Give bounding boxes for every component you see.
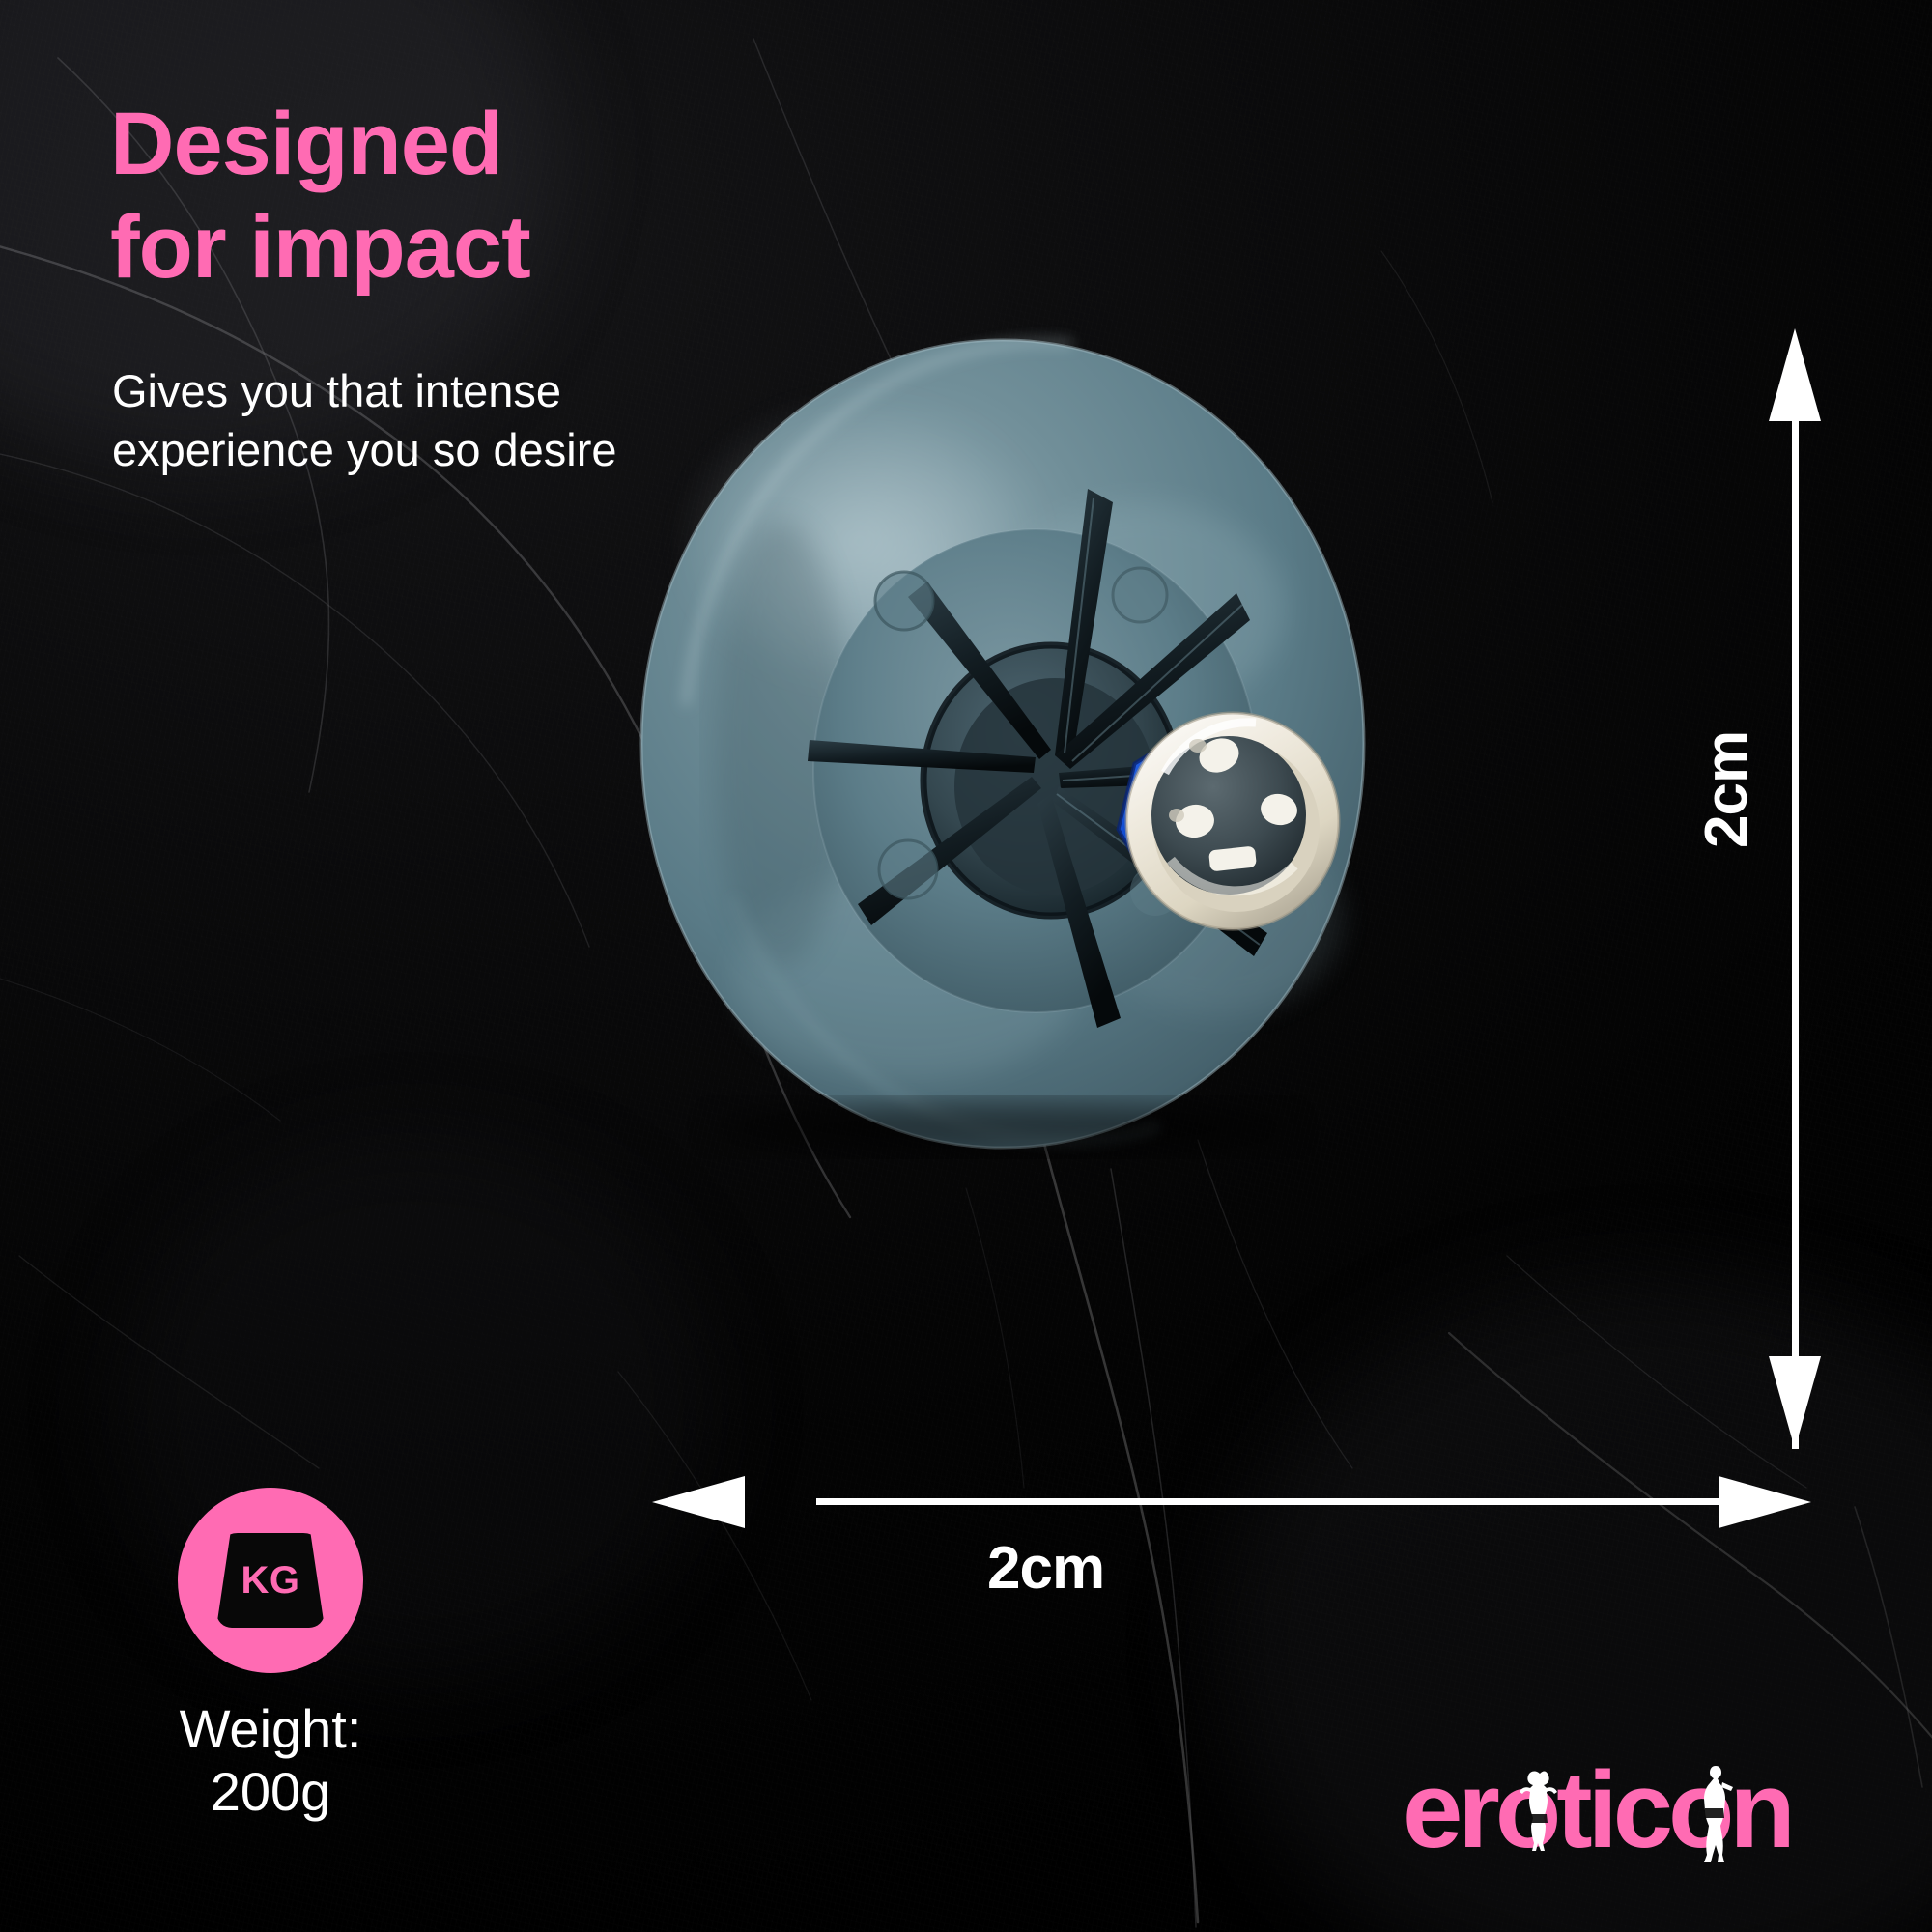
- arrow-down-icon: [1769, 1356, 1821, 1449]
- arrow-left-icon: [652, 1476, 745, 1528]
- brand-wordmark: eroticon: [1403, 1750, 1791, 1870]
- page-title: Designed for impact: [110, 93, 844, 298]
- vertical-dimension-line: [1792, 415, 1799, 1449]
- arrow-right-icon: [1719, 1476, 1811, 1528]
- kg-label: KG: [241, 1559, 300, 1603]
- kg-scale-icon: KG: [216, 1533, 325, 1628]
- product-feature-card: Designed for impact Gives you that inten…: [0, 0, 1932, 1932]
- arrow-up-icon: [1769, 328, 1821, 421]
- weight-block: KG Weight: 200g: [116, 1488, 425, 1824]
- weight-badge: KG: [178, 1488, 363, 1673]
- weight-text: Weight: 200g: [116, 1698, 425, 1824]
- vertical-dimension-label: 2cm: [1692, 731, 1761, 848]
- horizontal-dimension-line: [816, 1498, 1744, 1505]
- product-image: [618, 319, 1410, 1159]
- brand-logo: eroticon: [1403, 1750, 1886, 1882]
- horizontal-dimension-label: 2cm: [987, 1534, 1104, 1603]
